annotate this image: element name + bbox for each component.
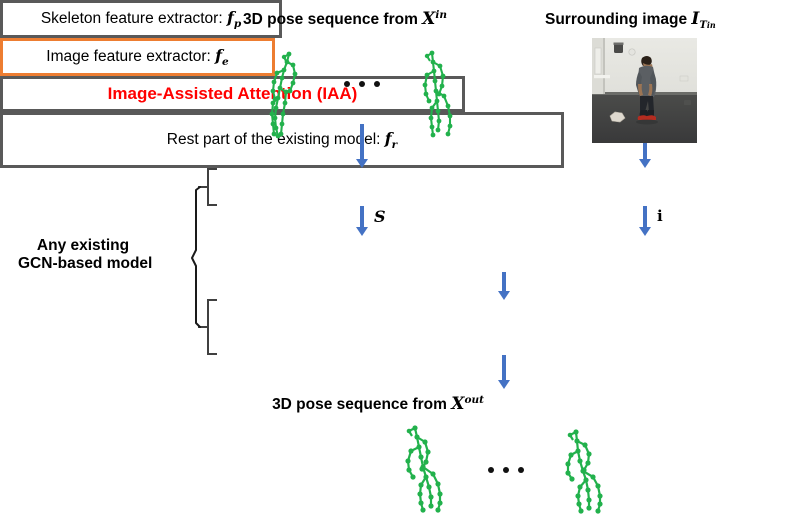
edge-label-i: i <box>657 207 663 225</box>
output-pose-caption-text: 3D pose sequence from <box>272 396 451 413</box>
arrow-head <box>639 227 651 236</box>
node-image-feature-extractor-label: Image feature extractor: fe <box>46 46 228 68</box>
input-pose-symbol: X <box>422 9 435 29</box>
output-pose-superscript: out <box>464 394 484 406</box>
output-pose-caption: 3D pose sequence from Xout <box>272 395 484 415</box>
group-brace-label: Any existing GCN-based model <box>18 237 148 273</box>
arrow-rest-to-output <box>497 355 511 389</box>
input-image-caption: Surrounding image ITin <box>545 10 716 30</box>
arrow-head <box>639 159 651 168</box>
arrow-image-to-image-extractor <box>638 143 652 168</box>
arrow-shaft <box>502 272 506 291</box>
group-brace-label-line1: Any existing <box>18 237 148 255</box>
brace-icon <box>150 160 206 360</box>
arrow-shaft <box>360 124 364 159</box>
arrow-iaa-to-rest <box>497 272 511 300</box>
output-skeleton-right <box>562 428 632 523</box>
arrow-head <box>356 159 368 168</box>
input-pose-caption: 3D pose sequence from Xin <box>243 10 447 30</box>
input-skeleton-right <box>412 48 472 148</box>
edge-label-s: S <box>374 207 386 226</box>
arrow-head <box>498 380 510 389</box>
group-brace-connector <box>150 160 206 360</box>
bracket-rest-part <box>207 299 217 355</box>
ellipsis-dot <box>488 467 494 473</box>
input-skeleton-left <box>262 48 322 148</box>
function-symbol-fp: fp <box>227 8 241 27</box>
node-skeleton-feature-extractor-label: Skeleton feature extractor: fp <box>41 8 241 30</box>
skeleton-pose-icon <box>562 428 632 523</box>
surrounding-image-photo <box>592 38 697 143</box>
arrow-image-extractor-to-iaa <box>638 206 652 236</box>
skeleton-pose-icon <box>262 48 322 148</box>
ellipsis-dot <box>503 467 509 473</box>
arrow-pose-to-skeleton-extractor <box>355 124 369 168</box>
ellipsis-dot <box>344 81 350 87</box>
input-image-subscript: Tin <box>699 20 715 31</box>
node-image-feature-extractor[interactable]: Image feature extractor: fe <box>0 38 275 76</box>
output-pose-symbol: X <box>451 394 464 414</box>
ellipsis-dot <box>518 467 524 473</box>
arrow-skeleton-extractor-to-iaa <box>355 206 369 236</box>
node-skeleton-feature-extractor[interactable]: Skeleton feature extractor: fp <box>0 0 282 38</box>
arrow-shaft <box>360 206 364 227</box>
output-skeleton-left <box>400 422 470 517</box>
output-ellipsis <box>488 467 524 473</box>
input-image-subscript-main: T <box>699 20 706 31</box>
node-image-assisted-attention[interactable]: Image-Assisted Attention (IAA) <box>0 76 465 112</box>
input-ellipsis <box>344 81 380 87</box>
input-pose-superscript: in <box>435 9 447 21</box>
group-brace-label-line2: GCN-based model <box>18 255 148 273</box>
bracket-skeleton-extractor <box>207 168 217 206</box>
arrow-shaft <box>502 355 506 380</box>
input-image-subscript-sub: in <box>707 20 716 30</box>
arrow-head <box>356 227 368 236</box>
function-symbol-fe: fe <box>215 46 229 65</box>
ellipsis-dot <box>374 81 380 87</box>
input-image-caption-text: Surrounding image <box>545 11 691 28</box>
skeleton-pose-icon <box>400 422 470 517</box>
function-symbol-fr: fr <box>385 129 397 148</box>
room-photo-person-standing <box>592 38 697 143</box>
ellipsis-dot <box>359 81 365 87</box>
arrow-head <box>498 291 510 300</box>
arrow-shaft <box>643 143 647 159</box>
skeleton-pose-icon <box>412 48 472 148</box>
arrow-shaft <box>643 206 647 227</box>
input-pose-caption-text: 3D pose sequence from <box>243 11 422 28</box>
